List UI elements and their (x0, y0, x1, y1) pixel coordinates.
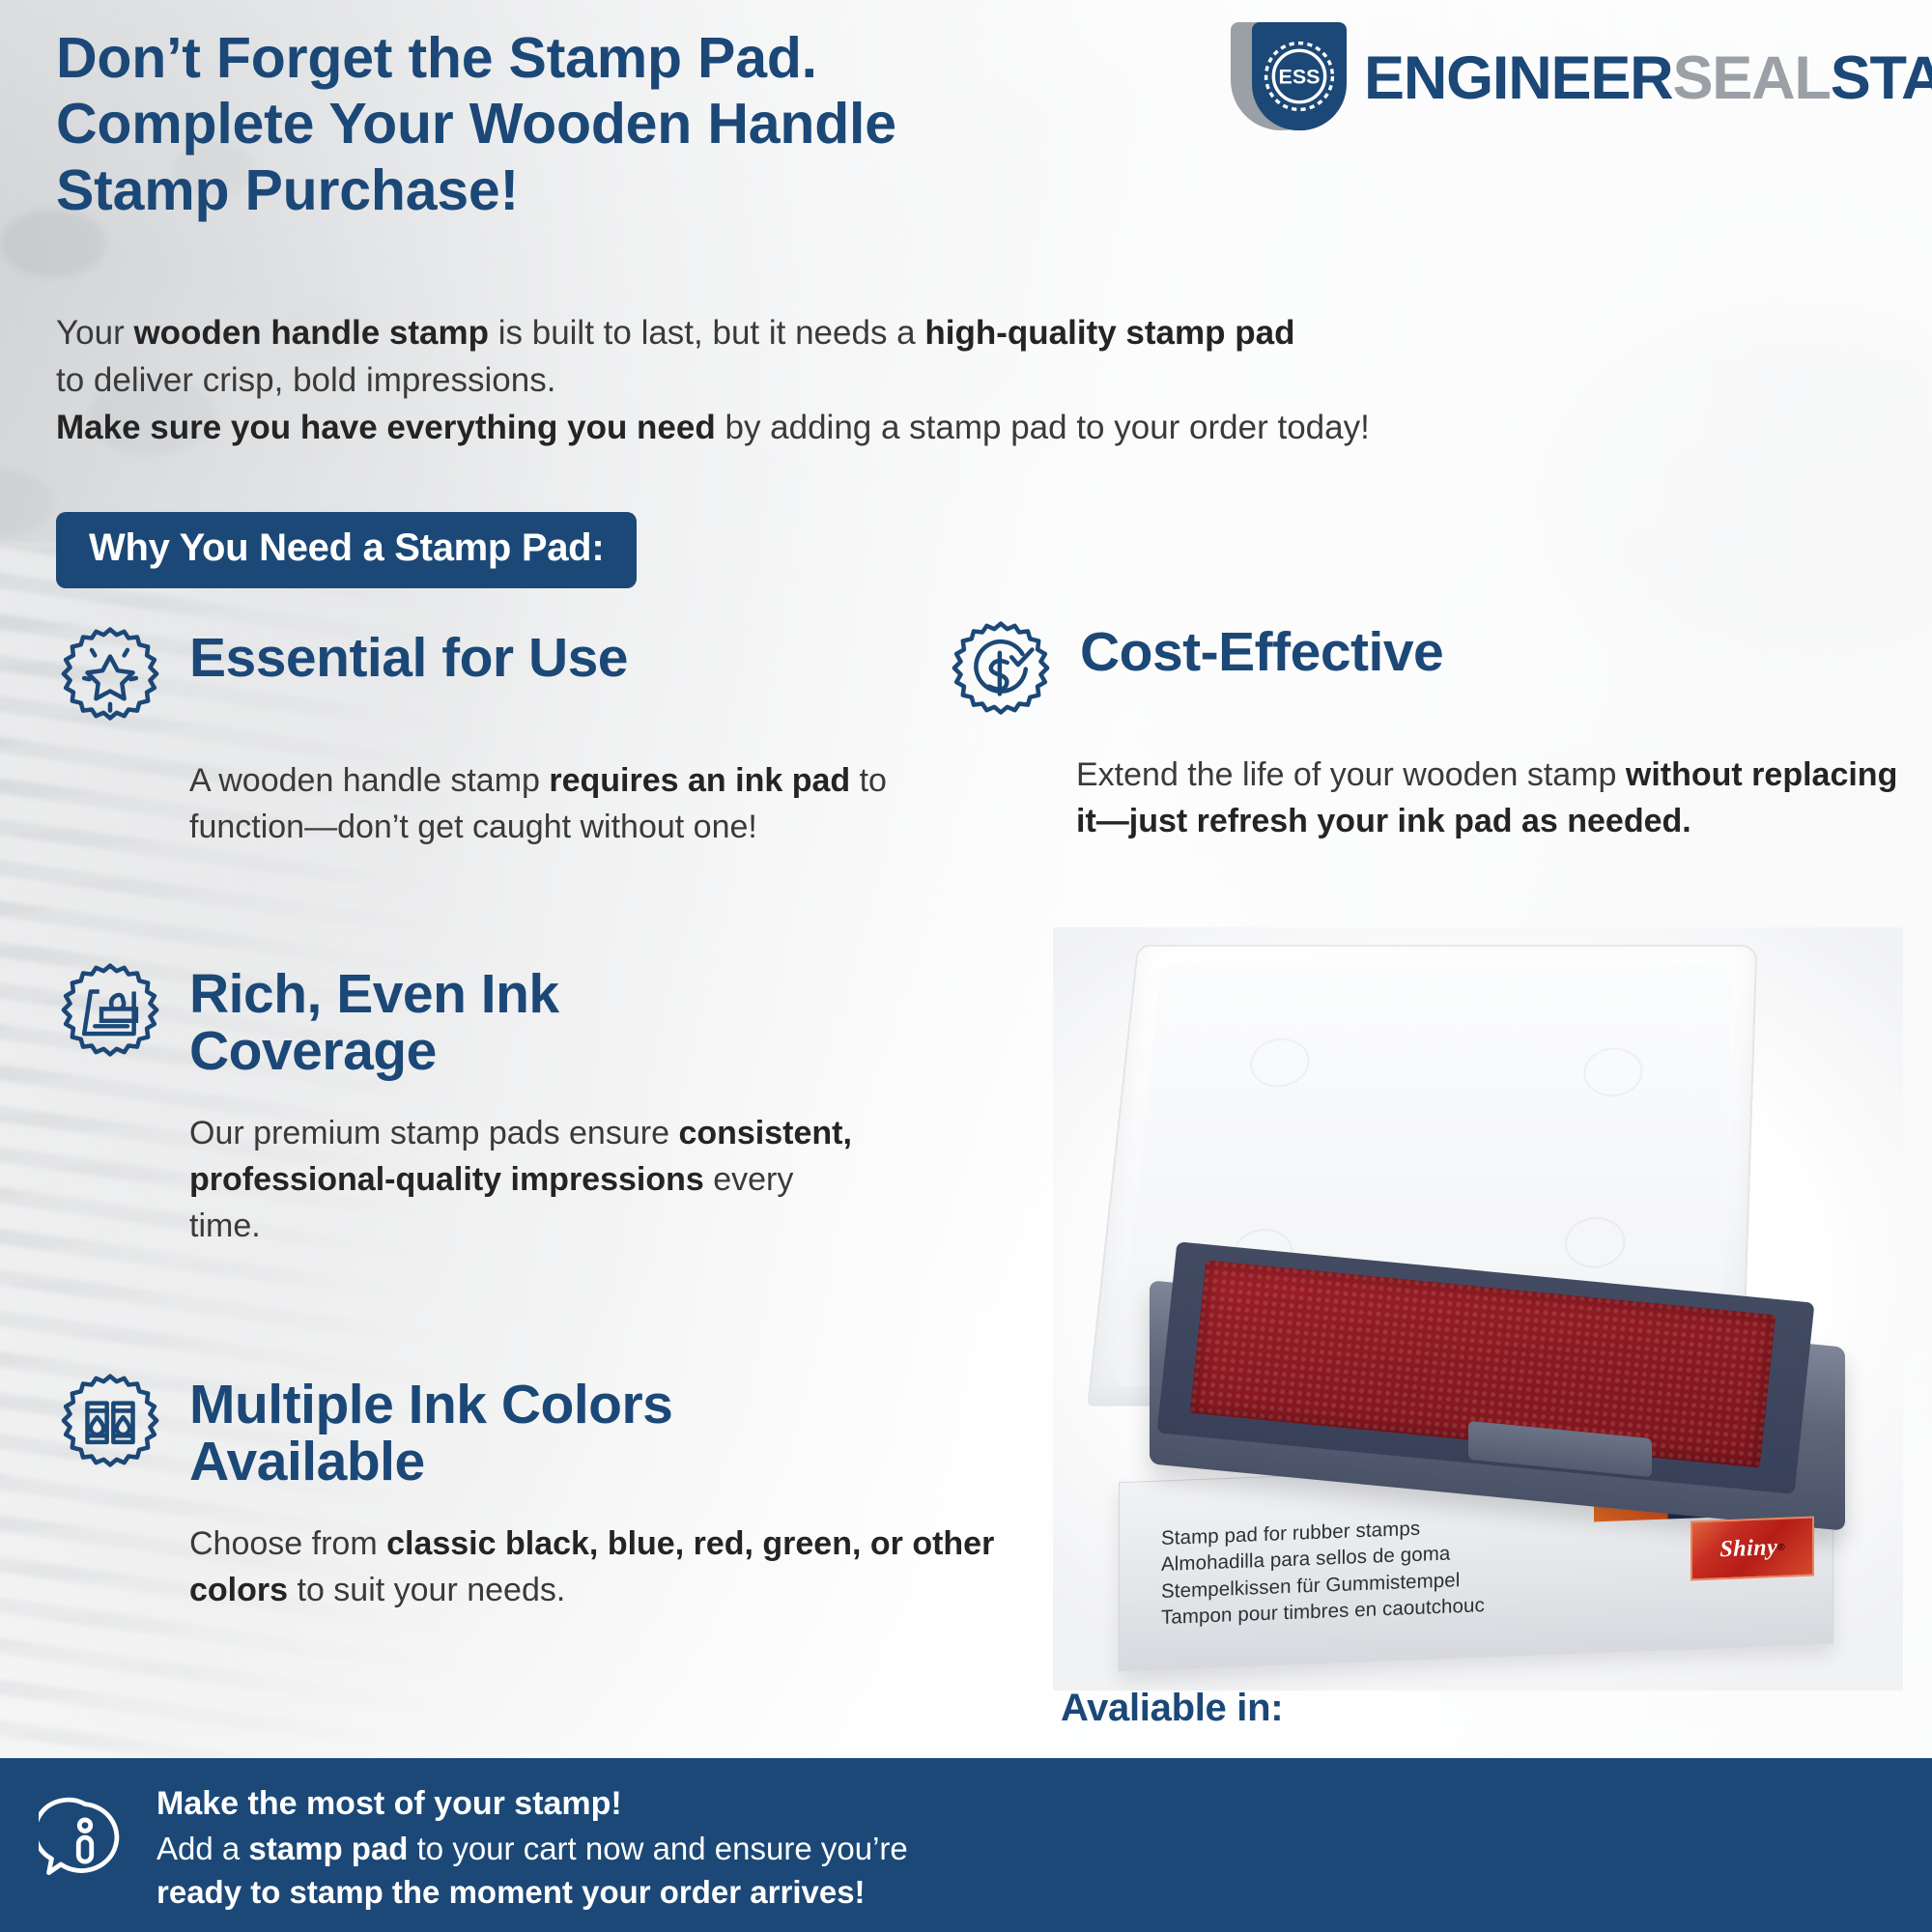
ribbon-label: Why You Need a Stamp Pad: (89, 526, 604, 569)
logo-mark-text: ESS (1278, 66, 1320, 89)
feature-body-text-a: Choose from (189, 1525, 386, 1562)
headline-line-2: Complete Your Wooden Handle (56, 91, 1244, 156)
ink-bottles-badge-icon (56, 1371, 164, 1479)
intro-line-2: to deliver crisp, bold impressions. (56, 356, 1756, 404)
shiny-brand-logo: Shiny® (1690, 1517, 1814, 1581)
feature-body: Extend the life of your wooden stamp wit… (1076, 752, 1907, 845)
feature-title: Cost-Effective (1080, 624, 1443, 681)
info-bubble-icon (39, 1795, 131, 1888)
feature-body: A wooden handle stamp requires an ink pa… (189, 757, 904, 851)
star-badge-icon (56, 624, 164, 732)
feature-body: Our premium stamp pads ensure consistent… (189, 1110, 866, 1250)
feature-title: Multiple Ink Colors Available (189, 1377, 885, 1492)
logo-wordmark: ENGINEERSEALSTAMPS.COM (1364, 48, 1932, 109)
feature-body-text-a: Extend the life of your wooden stamp (1076, 756, 1626, 793)
intro-bold-2: high-quality stamp pad (924, 314, 1294, 352)
logo-word-engineer: ENGINEER (1364, 44, 1672, 112)
feature-rich-even-ink-coverage: Rich, Even Ink Coverage Our premium stam… (56, 966, 867, 1249)
headline-line-3: Stamp Purchase! (56, 157, 1244, 223)
carton-description: Stamp pad for rubber stamps Almohadilla … (1161, 1508, 1615, 1631)
feature-cost-effective: Cost-Effective Extend the life of your w… (947, 624, 1922, 845)
cta-line-3: ready to stamp the moment your order arr… (156, 1870, 908, 1915)
intro-bold-1: wooden handle stamp (133, 314, 489, 352)
feature-body-text-c: to suit your needs. (288, 1572, 565, 1608)
logo-shield-icon: ESS (1231, 22, 1350, 134)
feature-body-text-a: A wooden handle stamp (189, 762, 549, 799)
bottom-cta-bar: Make the most of your stamp! Add a stamp… (0, 1758, 1932, 1932)
shiny-registered-mark: ® (1777, 1542, 1784, 1552)
cta-text: Make the most of your stamp! Add a stamp… (156, 1781, 908, 1915)
feature-multiple-ink-colors: Multiple Ink Colors Available Choose fro… (56, 1377, 1041, 1613)
feature-essential-for-use: Essential for Use A wooden handle stamp … (56, 630, 906, 851)
intro-text-3: by adding a stamp pad to your order toda… (716, 409, 1370, 446)
logo-word-stamps: STAMPS (1831, 44, 1932, 112)
shiny-brand-name: Shiny (1719, 1534, 1777, 1562)
cta-line-1: Make the most of your stamp! (156, 1781, 908, 1827)
section-ribbon: Why You Need a Stamp Pad: (56, 512, 637, 588)
cta-line-2: Add a stamp pad to your cart now and ens… (156, 1827, 908, 1871)
feature-body-bold: requires an ink pad (549, 762, 850, 799)
brand-logo[interactable]: ESS ENGINEERSEALSTAMPS.COM (1231, 21, 1907, 135)
cta-line-2-a: Add a (156, 1831, 248, 1866)
available-in-label: Avaliable in: (1061, 1687, 1283, 1730)
intro-line-3: Make sure you have everything you need b… (56, 404, 1756, 451)
infographic-page: Don’t Forget the Stamp Pad. Complete You… (0, 0, 1932, 1932)
cta-line-3-bold: ready to stamp the moment your order arr… (156, 1874, 866, 1910)
intro-line-1: Your wooden handle stamp is built to las… (56, 309, 1756, 356)
intro-text-2: is built to last, but it needs a (489, 314, 924, 352)
header: Don’t Forget the Stamp Pad. Complete You… (0, 0, 1932, 270)
cta-line-2-c: to your cart now and ensure you’re (408, 1831, 907, 1866)
intro-text-1: Your (56, 314, 133, 352)
feature-body: Choose from classic black, blue, red, gr… (189, 1520, 1039, 1614)
feature-body-text-a: Our premium stamp pads ensure (189, 1115, 678, 1151)
page-title: Don’t Forget the Stamp Pad. Complete You… (56, 25, 1244, 223)
cta-line-2-bold: stamp pad (248, 1831, 408, 1866)
logo-word-seal: SEAL (1672, 44, 1830, 112)
headline-line-1: Don’t Forget the Stamp Pad. (56, 25, 1244, 91)
product-photo-stamp-pad: Stamp pad for rubber stamps Almohadilla … (1053, 927, 1903, 1690)
cta-block: Make the most of your stamp! Add a stamp… (39, 1781, 1014, 1915)
feature-title: Essential for Use (189, 630, 628, 687)
feature-title: Rich, Even Ink Coverage (189, 966, 692, 1081)
stamp-badge-icon (56, 960, 164, 1068)
dollar-badge-icon (947, 618, 1055, 726)
intro-paragraph: Your wooden handle stamp is built to las… (56, 309, 1756, 451)
intro-bold-3: Make sure you have everything you need (56, 409, 716, 446)
